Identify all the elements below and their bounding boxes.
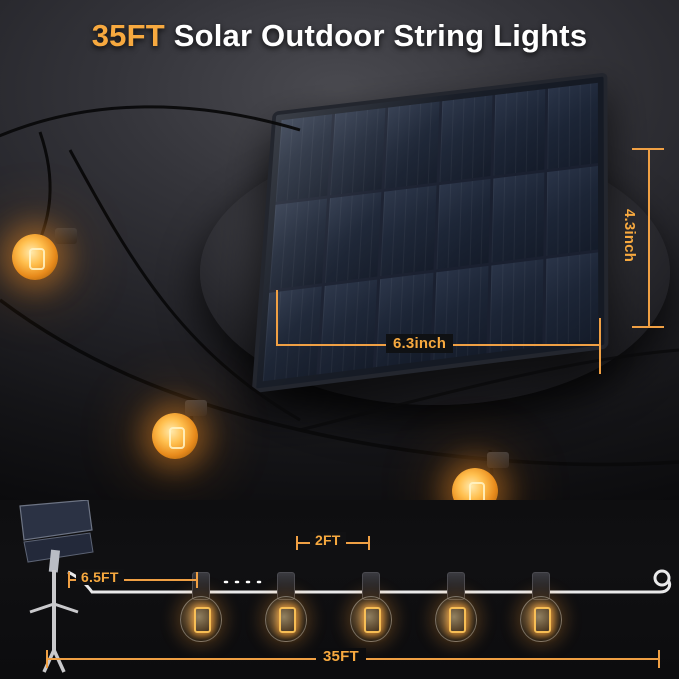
lead-tick-right <box>196 572 198 588</box>
bulb-cap <box>185 400 207 416</box>
string-bulb <box>435 596 477 642</box>
bulb-filament <box>279 607 296 633</box>
title-rest: Solar Outdoor String Lights <box>174 18 588 53</box>
page-title: 35FT Solar Outdoor String Lights <box>0 18 679 54</box>
height-measure-tick-top <box>632 148 664 150</box>
product-image: 4.3inch 6.3inch <box>0 0 679 679</box>
end-connector <box>655 571 669 585</box>
total-tick-left <box>46 650 48 668</box>
bulb-filament <box>29 248 45 270</box>
spacing-tick-right <box>368 536 370 550</box>
top-photo-scene: 4.3inch 6.3inch <box>0 0 679 500</box>
width-measure-tick-left <box>276 290 278 346</box>
bulb-filament <box>449 607 466 633</box>
bulb-filament <box>534 607 551 633</box>
total-tick-right <box>658 650 660 668</box>
height-measure-tick-bottom <box>632 326 664 328</box>
bulb-filament <box>364 607 381 633</box>
bulb-cap <box>487 452 509 468</box>
string-bulb <box>520 596 562 642</box>
bulb-filament <box>194 607 211 633</box>
title-accent: 35FT <box>92 18 165 53</box>
width-measure-tick-right <box>599 318 601 374</box>
panel-width-label: 6.3inch <box>386 334 453 353</box>
solar-panel-stake <box>20 500 93 672</box>
string-bulb <box>265 596 307 642</box>
lead-tick-left <box>68 572 70 588</box>
bulb-spacing-label: 2FT <box>310 532 346 548</box>
bottom-diagram: 2FT 6.5FT 35FT <box>0 500 679 679</box>
height-measure-line <box>648 148 650 328</box>
lead-length-label: 6.5FT <box>76 569 124 585</box>
string-bulb <box>350 596 392 642</box>
bulb-filament <box>169 427 185 449</box>
spacing-tick-left <box>296 536 298 550</box>
string-bulb <box>180 596 222 642</box>
total-length-label: 35FT <box>316 648 366 665</box>
string-wire-top <box>0 0 679 500</box>
bulb-cap <box>55 228 77 244</box>
panel-height-label: 4.3inch <box>621 209 638 262</box>
